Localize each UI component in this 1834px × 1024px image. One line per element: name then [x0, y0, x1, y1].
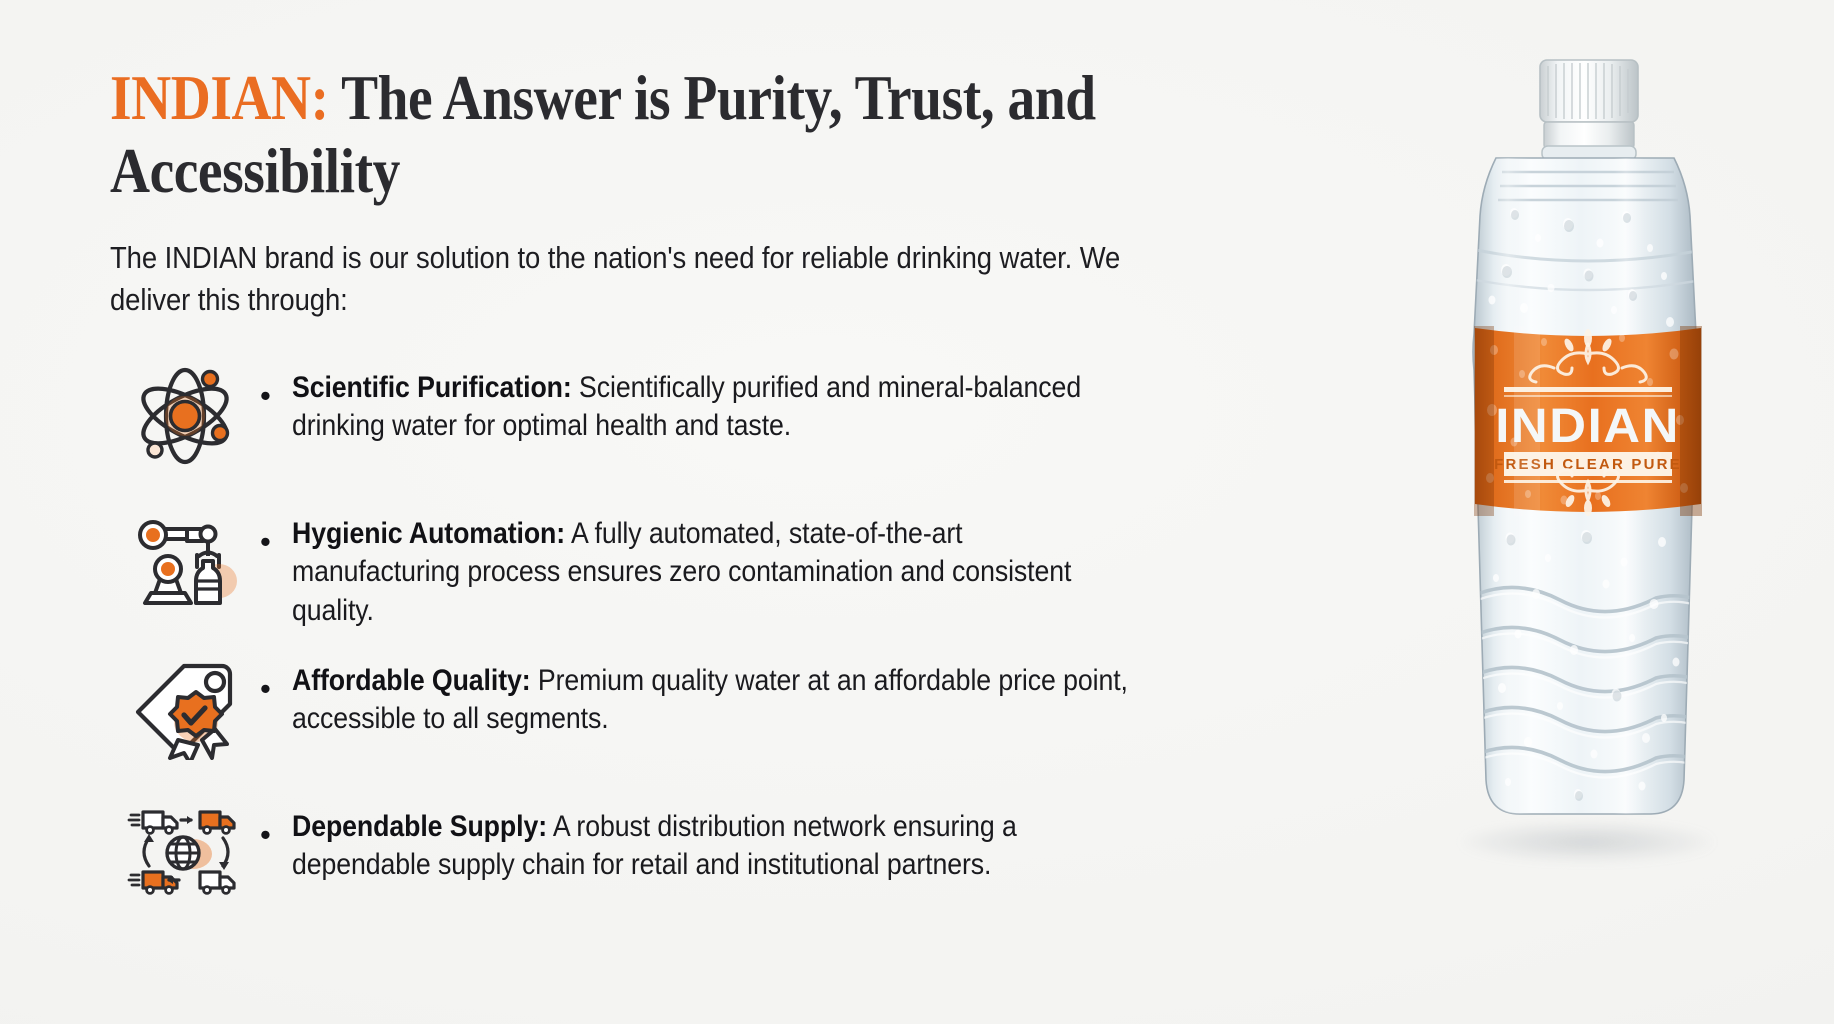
headline-brand: INDIAN:	[110, 63, 329, 133]
bullet-glyph: •	[260, 662, 292, 739]
feature-text: Scientific Purification: Scientifically …	[292, 369, 1134, 446]
bullet-glyph: •	[260, 369, 292, 446]
bottle-cap	[1540, 60, 1638, 148]
content-column: INDIAN: The Answer is Purity, Trust, and…	[110, 62, 1185, 920]
list-item: • Scientific Purification: Scientificall…	[110, 363, 1185, 481]
atom-icon	[110, 363, 260, 467]
feature-title: Affordable Quality:	[292, 664, 531, 697]
price-tag-quality-badge-icon	[110, 656, 260, 760]
feature-title: Scientific Purification:	[292, 371, 572, 404]
delivery-network-globe-icon	[110, 802, 260, 906]
bullet-glyph: •	[260, 515, 292, 630]
feature-title: Dependable Supply:	[292, 810, 547, 843]
product-bottle-image: INDIAN FRESH CLEAR PURE	[1418, 38, 1758, 858]
page-title: INDIAN: The Answer is Purity, Trust, and…	[110, 62, 1175, 208]
list-item: • Dependable Supply: A robust distributi…	[110, 802, 1185, 920]
feature-text: Hygienic Automation: A fully automated, …	[292, 515, 1134, 630]
bottle-label: INDIAN FRESH CLEAR PURE	[1474, 326, 1702, 518]
slide-canvas: INDIAN: The Answer is Purity, Trust, and…	[0, 0, 1834, 1024]
list-item: • Hygienic Automation: A fully automated…	[110, 509, 1185, 630]
feature-list: • Scientific Purification: Scientificall…	[110, 363, 1185, 920]
intro-paragraph: The INDIAN brand is our solution to the …	[110, 238, 1154, 321]
bullet-glyph: •	[260, 808, 292, 885]
feature-text: Affordable Quality: Premium quality wate…	[292, 662, 1134, 739]
feature-text: Dependable Supply: A robust distribution…	[292, 808, 1134, 885]
list-item: • Affordable Quality: Premium quality wa…	[110, 656, 1185, 774]
feature-title: Hygienic Automation:	[292, 517, 565, 550]
robotic-arm-bottling-icon	[110, 509, 260, 613]
bottle-graphic: INDIAN FRESH CLEAR PURE	[1418, 38, 1758, 858]
